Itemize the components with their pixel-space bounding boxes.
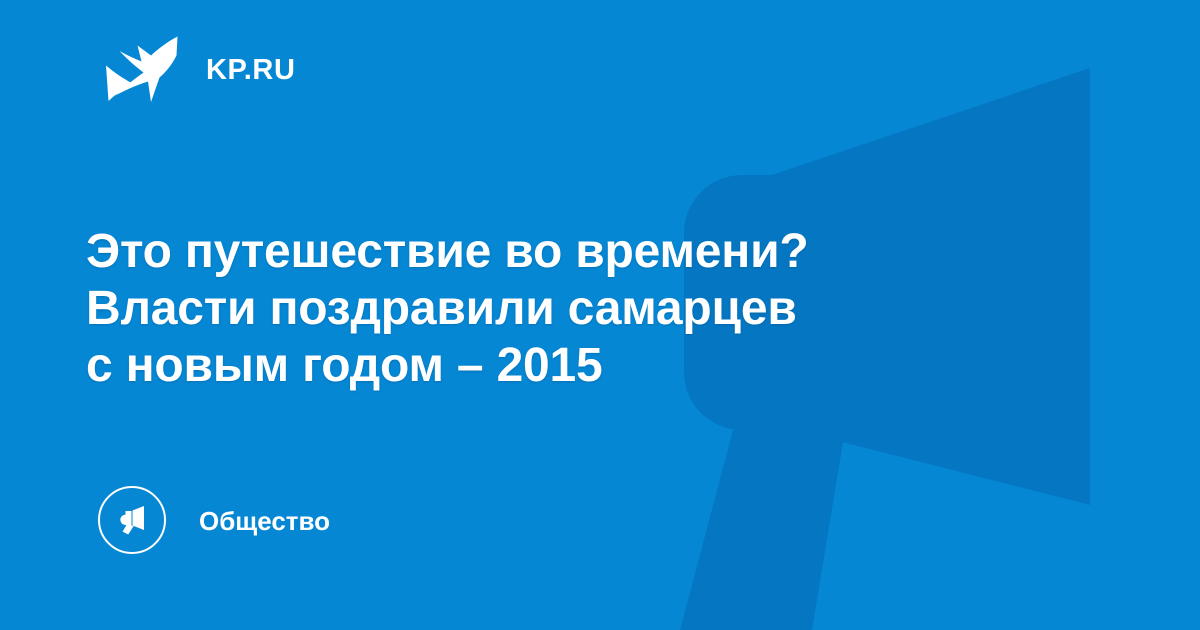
article-share-card: KP.RU Это путешествие во времени? Власти… [0,0,1200,630]
title-line-2: Власти поздравили самарцев [86,280,986,337]
category-badge[interactable]: Общество [98,485,330,555]
megaphone-icon [115,503,149,537]
title-line-3: с новым годом – 2015 [86,337,986,394]
category-label: Общество [199,508,330,534]
swallow-bird-icon [104,33,180,105]
site-header: KP.RU [104,33,296,105]
title-line-1: Это путешествие во времени? [86,223,986,280]
page-title: Это путешествие во времени? Власти поздр… [86,223,986,394]
category-icon-circle [98,486,166,554]
brand-name[interactable]: KP.RU [206,56,296,85]
